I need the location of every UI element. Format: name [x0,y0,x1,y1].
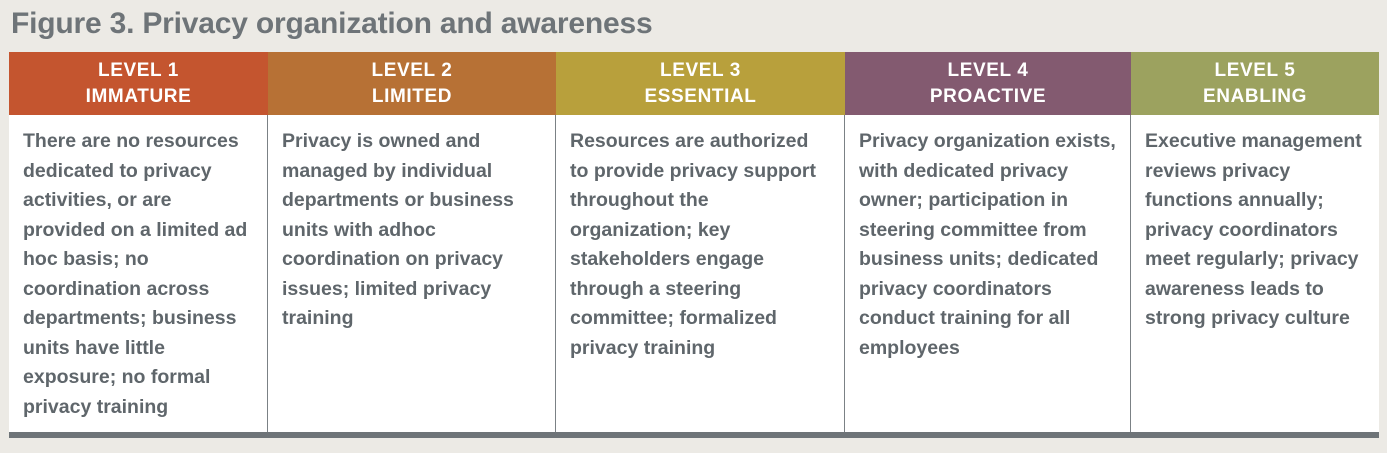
header-level-label: LEVEL 2 [372,58,453,84]
table-body-row: There are no resources dedicated to priv… [9,115,1379,438]
header-level-label: LEVEL 4 [948,58,1029,84]
maturity-matrix-table: LEVEL 1 IMMATURE LEVEL 2 LIMITED LEVEL 3… [9,52,1379,438]
header-name-label: ENABLING [1203,84,1307,110]
header-cell-level-3: LEVEL 3 ESSENTIAL [556,52,845,115]
table-header-row: LEVEL 1 IMMATURE LEVEL 2 LIMITED LEVEL 3… [9,52,1379,115]
header-cell-level-4: LEVEL 4 PROACTIVE [845,52,1131,115]
figure-container: Figure 3. Privacy organization and aware… [0,0,1387,453]
header-cell-level-2: LEVEL 2 LIMITED [268,52,556,115]
figure-title: Figure 3. Privacy organization and aware… [11,3,1371,47]
header-name-label: IMMATURE [86,84,192,110]
header-level-label: LEVEL 5 [1215,58,1296,84]
description-cell-level-5: Executive management reviews privacy fun… [1131,115,1379,432]
description-cell-level-4: Privacy organization exists, with dedica… [845,115,1131,432]
description-cell-level-3: Resources are authorized to provide priv… [556,115,845,432]
description-cell-level-1: There are no resources dedicated to priv… [9,115,268,432]
header-level-label: LEVEL 1 [98,58,179,84]
header-level-label: LEVEL 3 [660,58,741,84]
header-cell-level-5: LEVEL 5 ENABLING [1131,52,1379,115]
header-name-label: ESSENTIAL [644,84,756,110]
description-cell-level-2: Privacy is owned and managed by individu… [268,115,556,432]
header-name-label: PROACTIVE [930,84,1046,110]
header-cell-level-1: LEVEL 1 IMMATURE [9,52,268,115]
header-name-label: LIMITED [372,84,452,110]
